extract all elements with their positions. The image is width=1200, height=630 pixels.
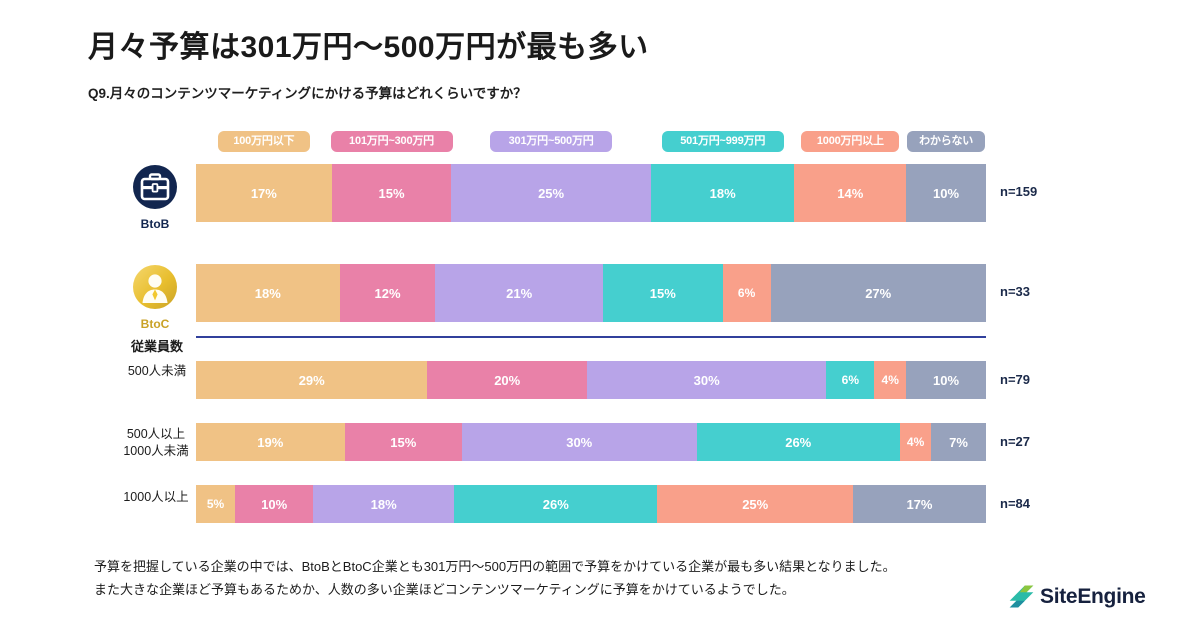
bar-segment: 5% [196,485,235,523]
bar-segment: 17% [196,164,332,222]
n-label-over1000: n=84 [1000,496,1030,511]
row-label-mid-line2: 1000人未満 [106,443,206,460]
bar-segment: 10% [906,164,986,222]
bar-segment: 7% [931,423,986,461]
siteengine-logo-icon [1008,583,1035,610]
btoc-caption: BtoC [115,317,195,331]
bar-row-btoc: 18%12%21%15%6%27% [196,264,986,322]
section-divider [196,336,986,338]
bar-segment: 18% [651,164,795,222]
bar-segment: 21% [435,264,603,322]
bar-row-under500: 29%20%30%6%4%10% [196,361,986,399]
bar-segment: 12% [340,264,436,322]
siteengine-logo-text: SiteEngine [1040,585,1146,609]
briefcase-icon [132,164,178,210]
person-icon [132,264,178,310]
stacked-bar: 29%20%30%6%4%10% [196,361,986,399]
bar-row-btob: 17%15%25%18%14%10% [196,164,986,222]
bar-segment: 19% [196,423,345,461]
footer-line-1: 予算を把握している企業の中では、BtoBとBtoC企業とも301万円〜500万円… [94,556,1054,579]
bar-segment: 4% [900,423,931,461]
bar-segment: 29% [196,361,427,399]
bar-segment: 10% [235,485,313,523]
bar-segment: 26% [454,485,657,523]
bar-segment: 25% [657,485,853,523]
bar-segment: 30% [587,361,826,399]
bar-segment: 15% [332,164,452,222]
bar-segment: 4% [874,361,906,399]
stacked-bar-chart: BtoB BtoC 従業員数 [0,0,1200,630]
stacked-bar: 19%15%30%26%4%7% [196,423,986,461]
bar-segment: 20% [427,361,587,399]
bar-segment: 15% [345,423,462,461]
bar-segment: 30% [462,423,697,461]
bar-segment: 6% [826,361,874,399]
infographic-page: 月々予算は301万円〜500万円が最も多い Q9.月々のコンテンツマーケティング… [0,0,1200,630]
btob-caption: BtoB [115,217,195,231]
bar-segment: 27% [771,264,986,322]
btob-icon-group: BtoB [115,164,195,231]
bar-row-over1000: 5%10%18%26%25%17% [196,485,986,523]
bar-segment: 18% [313,485,454,523]
bar-segment: 14% [794,164,906,222]
stacked-bar: 17%15%25%18%14%10% [196,164,986,222]
n-label-under500: n=79 [1000,372,1030,387]
employee-count-header: 従業員数 [112,338,202,356]
row-label-under500: 500人未満 [112,363,202,380]
stacked-bar: 18%12%21%15%6%27% [196,264,986,322]
bar-row-mid: 19%15%30%26%4%7% [196,423,986,461]
footer-note: 予算を把握している企業の中では、BtoBとBtoC企業とも301万円〜500万円… [94,556,1054,602]
bar-segment: 10% [906,361,986,399]
bar-segment: 25% [451,164,650,222]
bar-segment: 15% [603,264,723,322]
bar-segment: 6% [723,264,771,322]
row-label-over1000: 1000人以上 [106,489,206,506]
bar-segment: 17% [853,485,986,523]
bar-segment: 18% [196,264,340,322]
row-label-mid: 500人以上 1000人未満 [106,426,206,460]
bar-segment: 26% [697,423,900,461]
row-label-mid-line1: 500人以上 [106,426,206,443]
footer-line-2: また大きな企業ほど予算もあるためか、人数の多い企業ほどコンテンツマーケティングに… [94,579,1054,602]
n-label-btob: n=159 [1000,184,1037,199]
siteengine-logo: SiteEngine [1008,583,1146,610]
n-label-btoc: n=33 [1000,284,1030,299]
stacked-bar: 5%10%18%26%25%17% [196,485,986,523]
btoc-icon-group: BtoC [115,264,195,331]
n-label-mid: n=27 [1000,434,1030,449]
